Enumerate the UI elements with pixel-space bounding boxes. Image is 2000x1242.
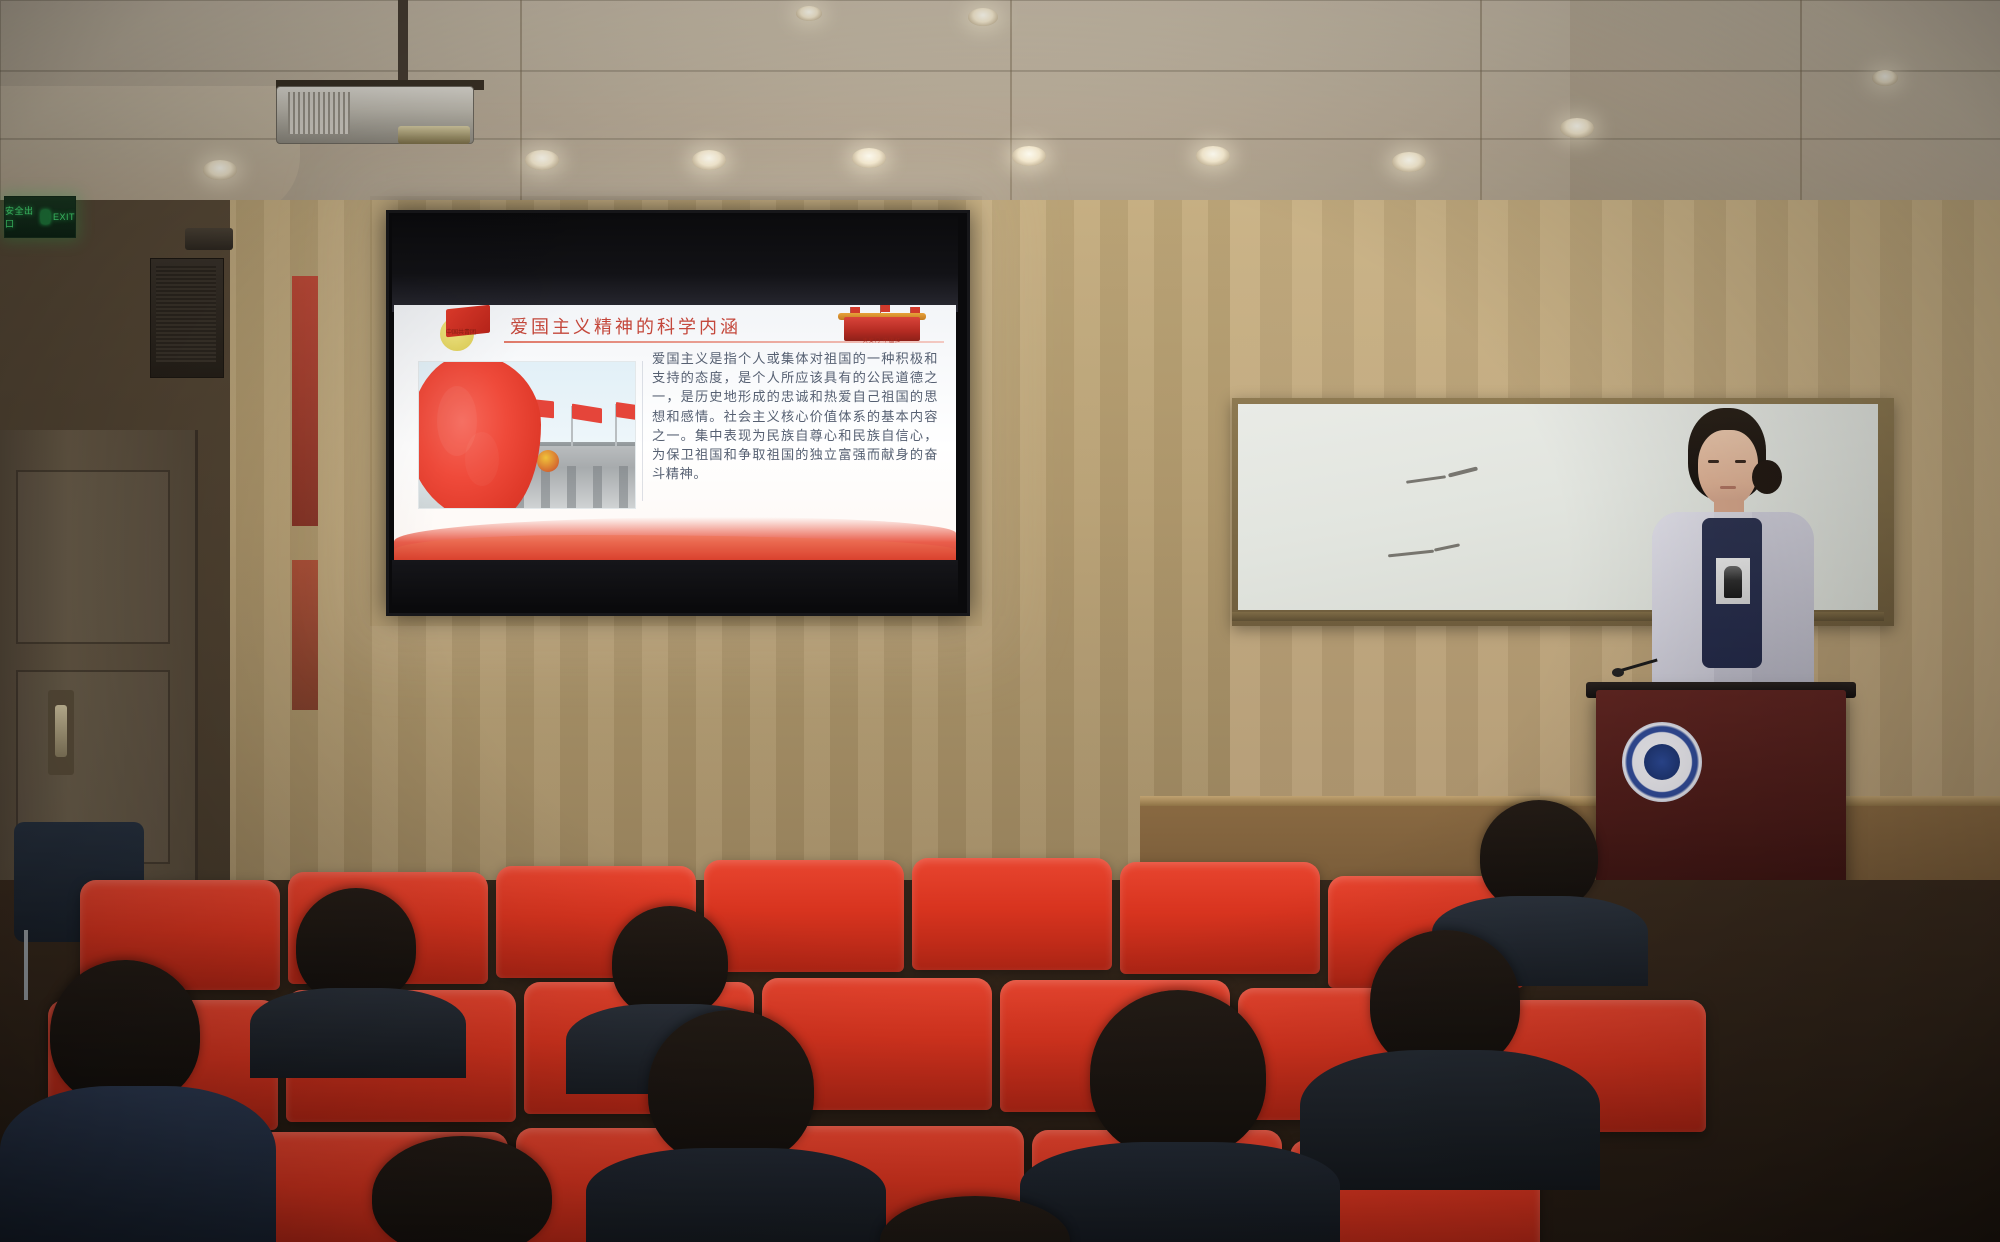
mic-arm — [1618, 659, 1657, 673]
side-chair-leg — [24, 930, 28, 1000]
ceiling-tile — [0, 138, 2000, 206]
ceiling-grid-line — [1010, 0, 1012, 205]
auditorium-seat[interactable] — [912, 858, 1112, 970]
emergency-exit-sign: 安全出口 EXIT — [4, 196, 76, 238]
audience-shoulders — [250, 988, 466, 1078]
projector-lens — [398, 126, 470, 144]
audience-head — [648, 1010, 814, 1166]
stage-edge — [1140, 796, 2000, 806]
projector-vent — [288, 92, 350, 134]
flag-icon — [881, 305, 890, 312]
audience-head — [50, 960, 200, 1106]
ceiling-downlight — [1392, 152, 1426, 172]
presenter-shirt-print-figure — [1724, 566, 1742, 598]
projection-screen-letterbox-top — [392, 216, 958, 312]
photo-national-emblem — [537, 450, 559, 472]
ceiling-downlight — [1872, 70, 1898, 86]
whiteboard-marker-stroke — [1388, 550, 1434, 558]
audience-head — [1090, 990, 1266, 1158]
ceiling-grid-line — [1800, 0, 1802, 205]
ceiling-grid-line — [1480, 0, 1482, 205]
ceiling-downlight — [852, 148, 886, 168]
audience-shoulders — [0, 1086, 276, 1242]
ceiling-grid-line — [520, 0, 522, 205]
audience-shoulders — [1020, 1142, 1340, 1242]
tiananmen-graphic-icon: 天安门 中国红 — [822, 307, 942, 343]
presentation-slide: 中国共青团 爱国主义精神的科学内涵 天安门 中国红 — [394, 305, 956, 563]
projector-mount-arm — [398, 0, 408, 90]
door-handle[interactable] — [55, 705, 67, 757]
auditorium-seat[interactable] — [1120, 862, 1320, 974]
tiananmen-caption: 天安门 中国红 — [844, 337, 920, 344]
whiteboard-marker-stroke — [1434, 543, 1460, 551]
whiteboard-marker-stroke — [1406, 475, 1446, 484]
slide-body-text: 爱国主义是指个人或集体对祖国的一种积极和支持的态度，是个人所应该具有的公民道德之… — [652, 349, 938, 483]
slide-title: 爱国主义精神的科学内涵 — [510, 313, 840, 339]
ceiling-downlight — [1560, 118, 1594, 138]
photo-column — [619, 466, 628, 508]
photo-flag-fold — [465, 432, 499, 486]
presenter-mouth — [1720, 486, 1736, 489]
presenter-face — [1698, 430, 1758, 506]
photo-column — [593, 466, 602, 508]
wall-red-banner — [292, 276, 318, 526]
lecture-hall-scene: 安全出口 EXIT 中国共青团 爱国主义精神的科学内涵 天安门 中 — [0, 0, 2000, 1242]
audience-shoulders — [1300, 1050, 1600, 1190]
ceiling-tile — [0, 0, 2000, 72]
exit-sign-label: EXIT — [53, 212, 75, 222]
auditorium-seat[interactable] — [704, 860, 904, 972]
photo-column — [541, 466, 550, 508]
slide-column-divider — [642, 361, 643, 501]
presenter-eye — [1735, 460, 1746, 463]
youth-league-emblem-icon: 中国共青团 — [436, 305, 488, 351]
door-panel — [16, 470, 170, 644]
presenter-hair-bun — [1752, 460, 1782, 494]
university-crest-center — [1644, 744, 1680, 780]
wall-camera — [185, 228, 233, 250]
running-man-icon — [41, 210, 50, 224]
ceiling-downlight — [692, 150, 726, 170]
wall-speaker-grill — [156, 266, 216, 362]
whiteboard-marker-stroke — [1448, 466, 1478, 477]
exit-sign-secondary-label: 安全出口 — [5, 204, 38, 230]
ceiling-downlight — [203, 160, 237, 180]
mic-head — [1612, 668, 1624, 677]
audience-head — [612, 906, 728, 1018]
ceiling-downlight — [525, 150, 559, 170]
ceiling-downlight — [796, 6, 822, 21]
presenter-eye — [1708, 460, 1719, 463]
audience-shoulders — [586, 1148, 886, 1242]
slide-photo-flags-tiananmen — [418, 361, 636, 509]
ceiling-downlight — [1012, 146, 1046, 166]
wall-red-banner-lower — [292, 560, 318, 710]
podium-microphone — [1612, 646, 1666, 686]
photo-column — [567, 466, 576, 508]
ceiling-downlight — [968, 8, 998, 26]
emblem-label: 中国共青团 — [444, 327, 478, 336]
projection-screen-letterbox-bottom — [392, 560, 958, 608]
audience-head — [296, 888, 416, 1004]
ceiling-downlight — [1196, 146, 1230, 166]
